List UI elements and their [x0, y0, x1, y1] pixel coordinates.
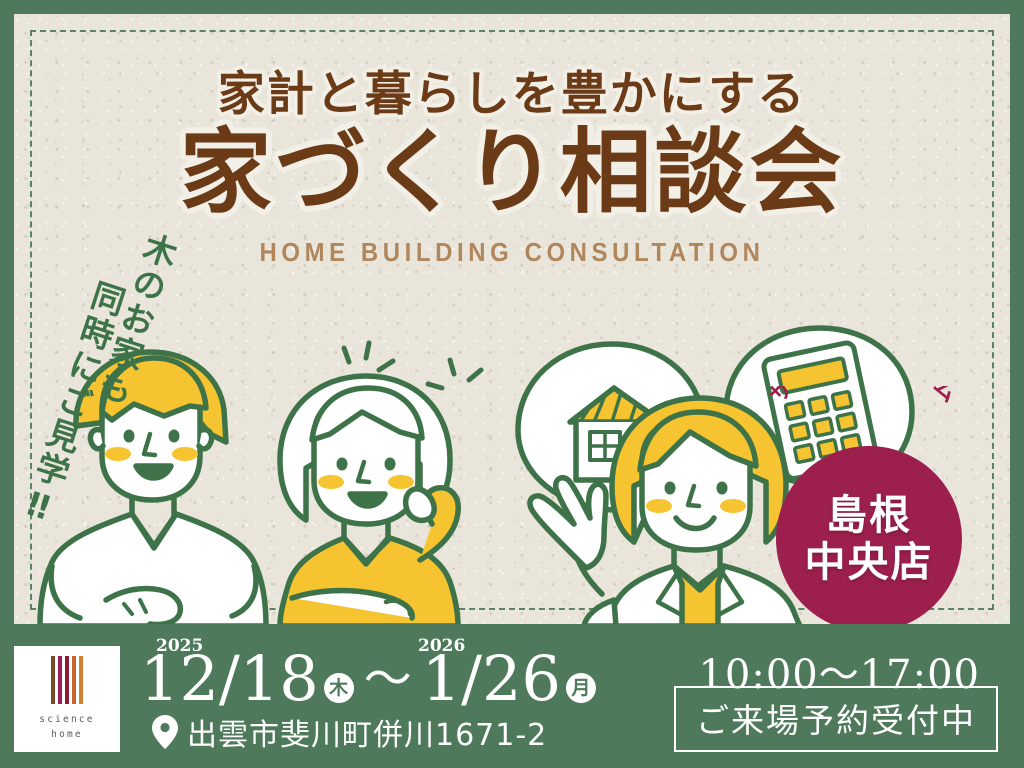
- badge-line-2: 中央店: [805, 539, 934, 586]
- date-separator: 〜: [364, 655, 412, 703]
- badge-circle: 島根 中央店: [776, 446, 962, 632]
- logo-bar-1: [51, 656, 55, 704]
- poster-root: 家計と暮らしを豊かにする 家づくり相談会 HOME BUILDING CONSU…: [0, 0, 1024, 768]
- title-line-1: 家計と暮らしを豊かにする: [14, 70, 1010, 119]
- logo-bars-icon: [51, 656, 83, 704]
- logo-wordmark: science home: [39, 713, 94, 742]
- date-start: 12/18: [140, 648, 319, 710]
- logo-bar-3: [65, 656, 69, 704]
- address-text: 出雲市斐川町併川1671-2: [187, 710, 547, 754]
- reservation-notice: ご来場予約受付中: [674, 686, 998, 752]
- badge-line-1: 島根: [826, 492, 912, 539]
- logo-bar-4: [72, 656, 76, 704]
- bottom-info-bar: science home 2025 2026 12/18 木 〜 1/26 月 …: [0, 624, 1024, 768]
- date-start-dow-badge: 木: [324, 673, 354, 703]
- date-end: 1/26: [422, 648, 561, 710]
- logo-bar-5: [79, 656, 83, 704]
- svg-text:サイエンスホーム: サイエンスホーム: [765, 386, 964, 409]
- logo-bar-2: [58, 656, 62, 704]
- logo-text-line-2: home: [39, 728, 94, 742]
- date-end-dow-badge: 月: [566, 673, 596, 703]
- company-logo: science home: [14, 646, 120, 752]
- date-range: 12/18 木 〜 1/26 月: [140, 648, 596, 710]
- logo-text-line-1: science: [39, 713, 94, 727]
- title-subtitle-english: HOME BUILDING CONSULTATION: [54, 237, 970, 268]
- shop-badge: サイエンスホーム 島根 中央店: [748, 386, 980, 634]
- title-line-2: 家づくり相談会: [14, 123, 1010, 222]
- map-pin-icon: [152, 715, 178, 749]
- venue-address: 出雲市斐川町併川1671-2: [152, 710, 547, 754]
